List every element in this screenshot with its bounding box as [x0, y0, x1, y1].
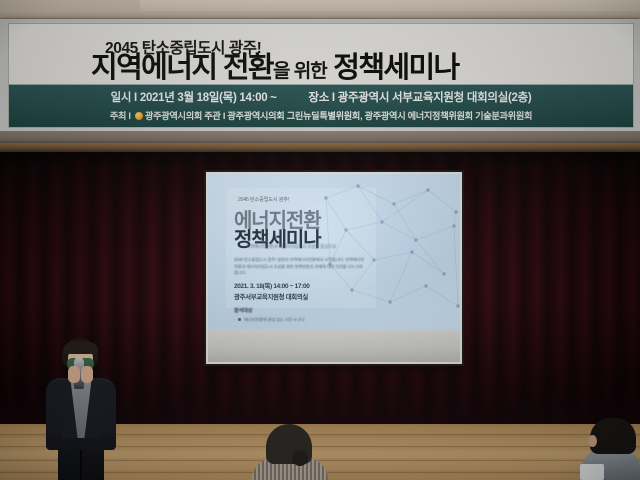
audience-member-right — [580, 418, 640, 480]
projection-screen-surface: 2045 탄소중립도시 광주! 에너지전환 정책세미나 지역에너지전환과 에너지… — [208, 174, 460, 362]
separator-4: I — [223, 111, 225, 121]
place-value: 광주광역시 서부교육지원청 대회의실(2층) — [338, 92, 532, 104]
presenter-hair-fringe — [63, 342, 98, 354]
banner-title-connector: 을 위한 — [273, 61, 327, 82]
separator-2: I — [332, 92, 335, 104]
banner-title-part-b: 정책세미나 — [333, 52, 458, 84]
banner-info-band: 일시 I 2021년 3월 18일(목) 14:00 ~ 장소 I 광주광역시 … — [9, 84, 633, 127]
bullet-icon — [238, 318, 241, 321]
presenter-hand-right — [81, 366, 93, 383]
event-banner: 2045 탄소중립도시 광주! 지역에너지 전환을 위한 정책세미나 일시 I … — [0, 19, 640, 133]
presentation-slide: 2045 탄소중립도시 광주! 에너지전환 정책세미나 지역에너지전환과 에너지… — [208, 174, 460, 329]
projection-screen: 2045 탄소중립도시 광주! 에너지전환 정책세미나 지역에너지전환과 에너지… — [204, 170, 464, 366]
host-value: 광주광역시의회 — [145, 111, 202, 121]
separator-3: I — [128, 111, 130, 121]
slide-datetime: 2021. 3. 18(목) 14:00 ~ 17:00 — [234, 281, 309, 290]
audience-right-ear — [588, 435, 597, 447]
slide-tagline: 지역에너지전환과 에너지자립도시 조성을 중심으로 — [246, 244, 336, 250]
slide-audience-label: 참석대상 — [234, 307, 252, 314]
datetime-label: 일시 — [111, 92, 132, 104]
photo-scene: 2045 탄소중립도시 광주! 지역에너지 전환을 위한 정책세미나 일시 I … — [0, 0, 640, 480]
banner-band-row-datetime: 일시 I 2021년 3월 18일(목) 14:00 ~ 장소 I 광주광역시 … — [9, 89, 633, 105]
slide-audience-item: 에너지전환에 관심 있는 시민 누구나 — [244, 317, 305, 323]
city-council-emblem-icon — [135, 112, 143, 120]
audience-right-device — [580, 464, 604, 480]
banner-band-row-hosts: 주최 I 광주광역시의회 주관 I 광주광역시의회 그린뉴딜특별위원회, 광주광… — [9, 108, 633, 122]
presenter-hand-left — [68, 366, 80, 383]
slide-venue: 광주서부교육지원청 대회의실 — [234, 292, 308, 301]
stage-valance-beam — [0, 143, 640, 152]
banner-inner-panel: 2045 탄소중립도시 광주! 지역에너지 전환을 위한 정책세미나 일시 I … — [8, 23, 634, 128]
host-label: 주최 — [110, 111, 126, 121]
organizer-value: 광주광역시의회 그린뉴딜특별위원회, 광주광역시 에너지정책위원회 기술분과위원… — [227, 111, 532, 121]
presenter-figure — [18, 338, 142, 480]
audience-left-hair-bun — [292, 450, 308, 466]
banner-headline-main: 지역에너지 전환을 위한 정책세미나 — [91, 54, 459, 83]
network-graphic-icon — [316, 178, 460, 328]
place-label: 장소 — [308, 92, 329, 104]
slide-eyebrow-text: 2045 탄소중립도시 광주! — [238, 196, 289, 203]
organizer-label: 주관 — [204, 111, 220, 121]
presenter-arm-left — [46, 382, 64, 434]
datetime-value: 2021년 3월 18일(목) 14:00 ~ — [140, 92, 277, 104]
separator-1: I — [134, 92, 137, 104]
screen-blank-area — [208, 329, 460, 362]
banner-title-part-a: 지역에너지 전환 — [91, 52, 273, 84]
audience-member-left — [252, 424, 328, 480]
presenter-leg-gap — [80, 450, 82, 480]
slide-body-text: 2045 탄소중립도시 광주! 실현과 지역에너지전환에서 시작됩니다. 지역에… — [234, 257, 364, 277]
audience-right-hair — [590, 418, 636, 454]
ceiling-wall — [0, 0, 640, 20]
presenter-arm-right — [98, 382, 116, 434]
